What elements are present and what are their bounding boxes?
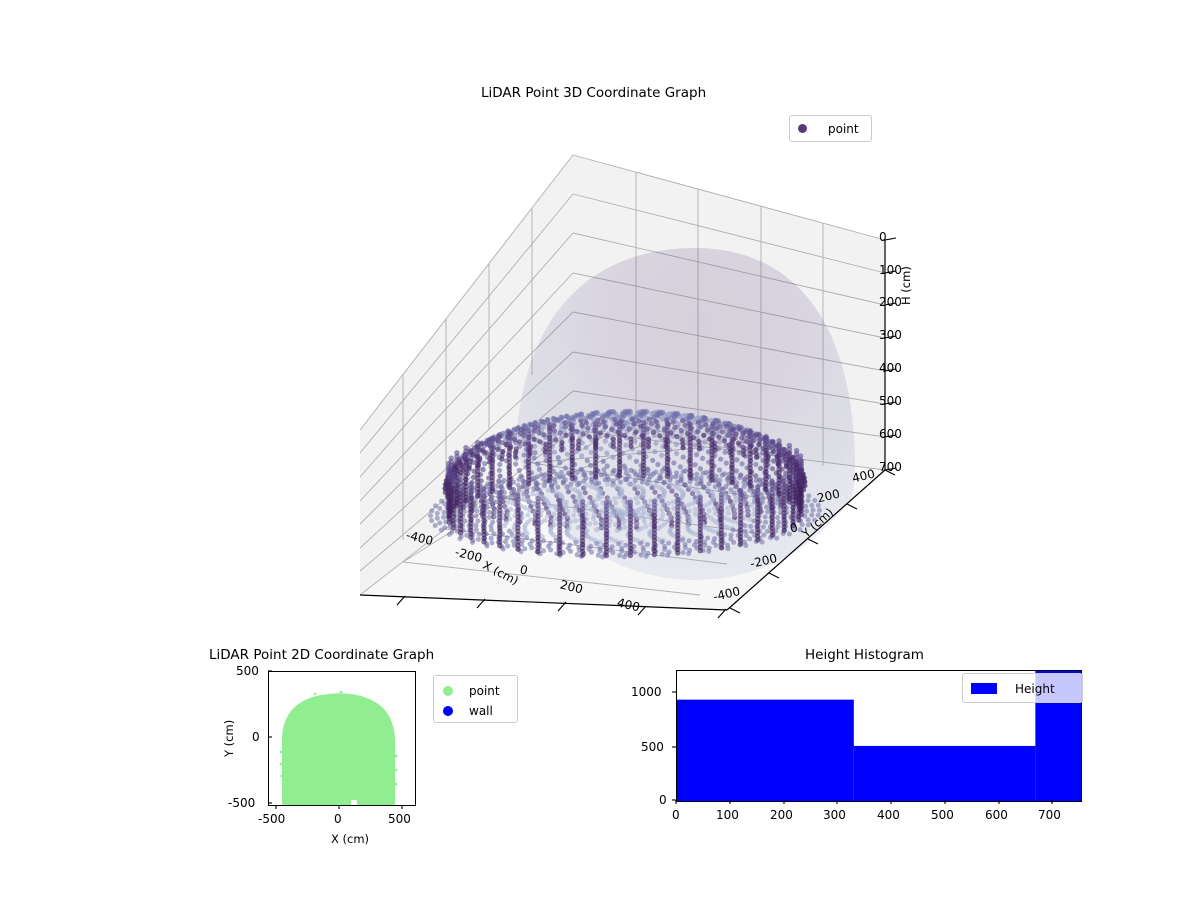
hist-x-tick-600: 600	[985, 808, 1008, 822]
h-tick-400: 400	[879, 361, 902, 375]
hist-x-tick-200: 200	[770, 808, 793, 822]
legend-label-point: point	[469, 684, 500, 698]
plot2d-y-axis-label: Y (cm)	[222, 720, 236, 757]
h-tick-300: 300	[879, 328, 902, 342]
plot3d-canvas	[355, 140, 915, 630]
h-tick-600: 600	[879, 427, 902, 441]
h-axis-label: H (cm)	[899, 266, 913, 305]
plot2d-x-tick-500: 500	[388, 812, 411, 826]
hist-y-tick-1000: 1000	[631, 685, 662, 699]
hist-x-tick-400: 400	[877, 808, 900, 822]
legend-item-wall: wall	[434, 700, 517, 720]
plot2d-ticks	[258, 665, 428, 825]
histogram-title: Height Histogram	[805, 647, 924, 663]
plot2d-title: LiDAR Point 2D Coordinate Graph	[209, 647, 434, 663]
hist-y-tick-500: 500	[641, 740, 664, 754]
plot2d-y-tick-500: 500	[236, 664, 259, 678]
hist-x-tick-100: 100	[716, 808, 739, 822]
plot2d-x-tick--500: -500	[258, 812, 285, 826]
legend-label-height: Height	[1015, 682, 1055, 696]
hist-x-tick-500: 500	[931, 808, 954, 822]
legend-item-height: Height	[963, 674, 1082, 698]
hist-y-tick-0: 0	[659, 793, 667, 807]
legend-item-point: point	[790, 116, 871, 138]
plot2d-x-tick-0: 0	[334, 812, 342, 826]
h-tick-500: 500	[879, 394, 902, 408]
point-marker-icon	[798, 124, 807, 133]
plot2d-y-tick--500: -500	[228, 796, 255, 810]
plot2d-x-axis-label: X (cm)	[331, 832, 369, 846]
height-bar-swatch-icon	[971, 683, 997, 694]
matplotlib-figure: LiDAR Point 3D Coordinate Graph point	[0, 0, 1200, 900]
plot3d-axes[interactable]	[355, 140, 915, 630]
h-tick-0: 0	[879, 230, 887, 244]
legend-label-wall: wall	[469, 704, 493, 718]
legend-item-point: point	[434, 676, 517, 700]
hist-x-tick-0: 0	[672, 808, 680, 822]
legend-label-point: point	[828, 122, 859, 136]
wall-marker-icon	[443, 706, 453, 716]
plot2d-legend[interactable]: point wall	[433, 675, 518, 723]
plot2d-y-tick-0: 0	[252, 730, 260, 744]
h-tick-700: 700	[879, 460, 902, 474]
hist-x-tick-700: 700	[1038, 808, 1061, 822]
plot3d-legend[interactable]: point	[789, 115, 872, 142]
histogram-legend[interactable]: Height	[962, 673, 1083, 703]
plot3d-title: LiDAR Point 3D Coordinate Graph	[481, 85, 706, 101]
hist-x-tick-300: 300	[823, 808, 846, 822]
point-marker-icon	[443, 686, 453, 696]
